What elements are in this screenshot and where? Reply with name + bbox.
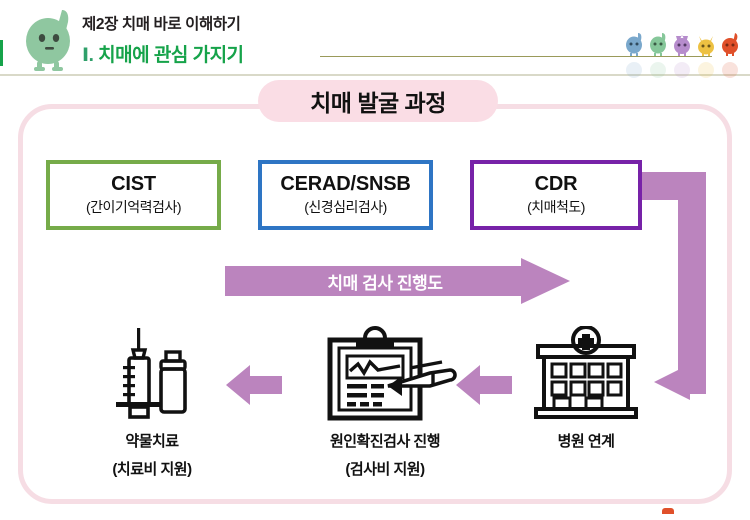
chapter-label: 제2장 치매 바로 이해하기 xyxy=(82,12,244,34)
arrow-hospital-to-exam-icon xyxy=(456,362,512,408)
test-box-cdr[interactable]: CDR (치매척도) xyxy=(470,160,642,230)
stage-exam-caption-1: 원인확진검사 진행 xyxy=(330,430,440,451)
mascot-red-reflection-icon xyxy=(720,58,740,78)
test-sub-cerad-snsb: (신경심리검사) xyxy=(304,198,387,216)
mascot-yellow-icon xyxy=(696,32,716,56)
mascot-blue-icon xyxy=(624,32,644,56)
stage-exam[interactable]: 원인확진검사 진행 (검사비 지원) xyxy=(300,326,470,479)
stage-medication[interactable]: 약물치료 (치료비 지원) xyxy=(92,326,212,479)
diagram-title-banner: 치매 발굴 과정 xyxy=(258,80,498,122)
bottom-edge-mark xyxy=(662,508,674,514)
arrow-exam-to-medication-icon xyxy=(226,362,282,408)
test-code-cist: CIST xyxy=(111,173,156,196)
test-sub-cdr: (치매척도) xyxy=(527,198,585,216)
header-accent-bar xyxy=(0,40,3,66)
progress-arrow-right xyxy=(225,258,570,304)
mascot-green-reflection-icon xyxy=(648,58,668,78)
test-code-cdr: CDR xyxy=(535,173,578,196)
syringe-and-vial-icon xyxy=(104,326,200,421)
stage-exam-caption-2: (검사비 지원) xyxy=(345,458,424,479)
section-title: 치매에 관심 가지기 xyxy=(98,45,243,66)
header-divider-rule xyxy=(320,56,712,57)
test-box-cist[interactable]: CIST (간이기억력검사) xyxy=(46,160,221,230)
mascot-blue-reflection-icon xyxy=(624,58,644,78)
clipboard-with-pencil-icon xyxy=(310,326,460,421)
hospital-building-icon xyxy=(528,326,644,421)
mascot-character-row xyxy=(624,24,742,56)
stage-medication-caption-2: (치료비 지원) xyxy=(112,458,191,479)
stage-hospital[interactable]: 병원 연계 xyxy=(518,326,654,451)
test-box-cerad-snsb[interactable]: CERAD/SNSB (신경심리검사) xyxy=(258,160,433,230)
stage-hospital-caption-1: 병원 연계 xyxy=(558,430,615,451)
mascot-yellow-reflection-icon xyxy=(696,58,716,78)
mascot-row-reflection xyxy=(624,58,742,78)
test-code-cerad-snsb: CERAD/SNSB xyxy=(280,173,410,196)
stage-medication-caption-1: 약물치료 xyxy=(125,430,178,451)
header-text-group: 제2장 치매 바로 이해하기 Ⅰ. 치매에 관심 가지기 xyxy=(82,12,244,67)
mascot-green-icon xyxy=(648,32,668,56)
mascot-purple-icon xyxy=(672,32,692,56)
mascot-purple-reflection-icon xyxy=(672,58,692,78)
diagram-title: 치매 발굴 과정 xyxy=(310,84,446,118)
page-header: 제2장 치매 바로 이해하기 Ⅰ. 치매에 관심 가지기 xyxy=(0,0,750,78)
green-blob-mascot-icon xyxy=(18,6,80,72)
section-heading: Ⅰ. 치매에 관심 가지기 xyxy=(82,40,244,67)
test-sub-cist: (간이기억력검사) xyxy=(86,198,181,216)
mascot-red-icon xyxy=(720,32,740,56)
section-number: Ⅰ. xyxy=(82,45,93,66)
